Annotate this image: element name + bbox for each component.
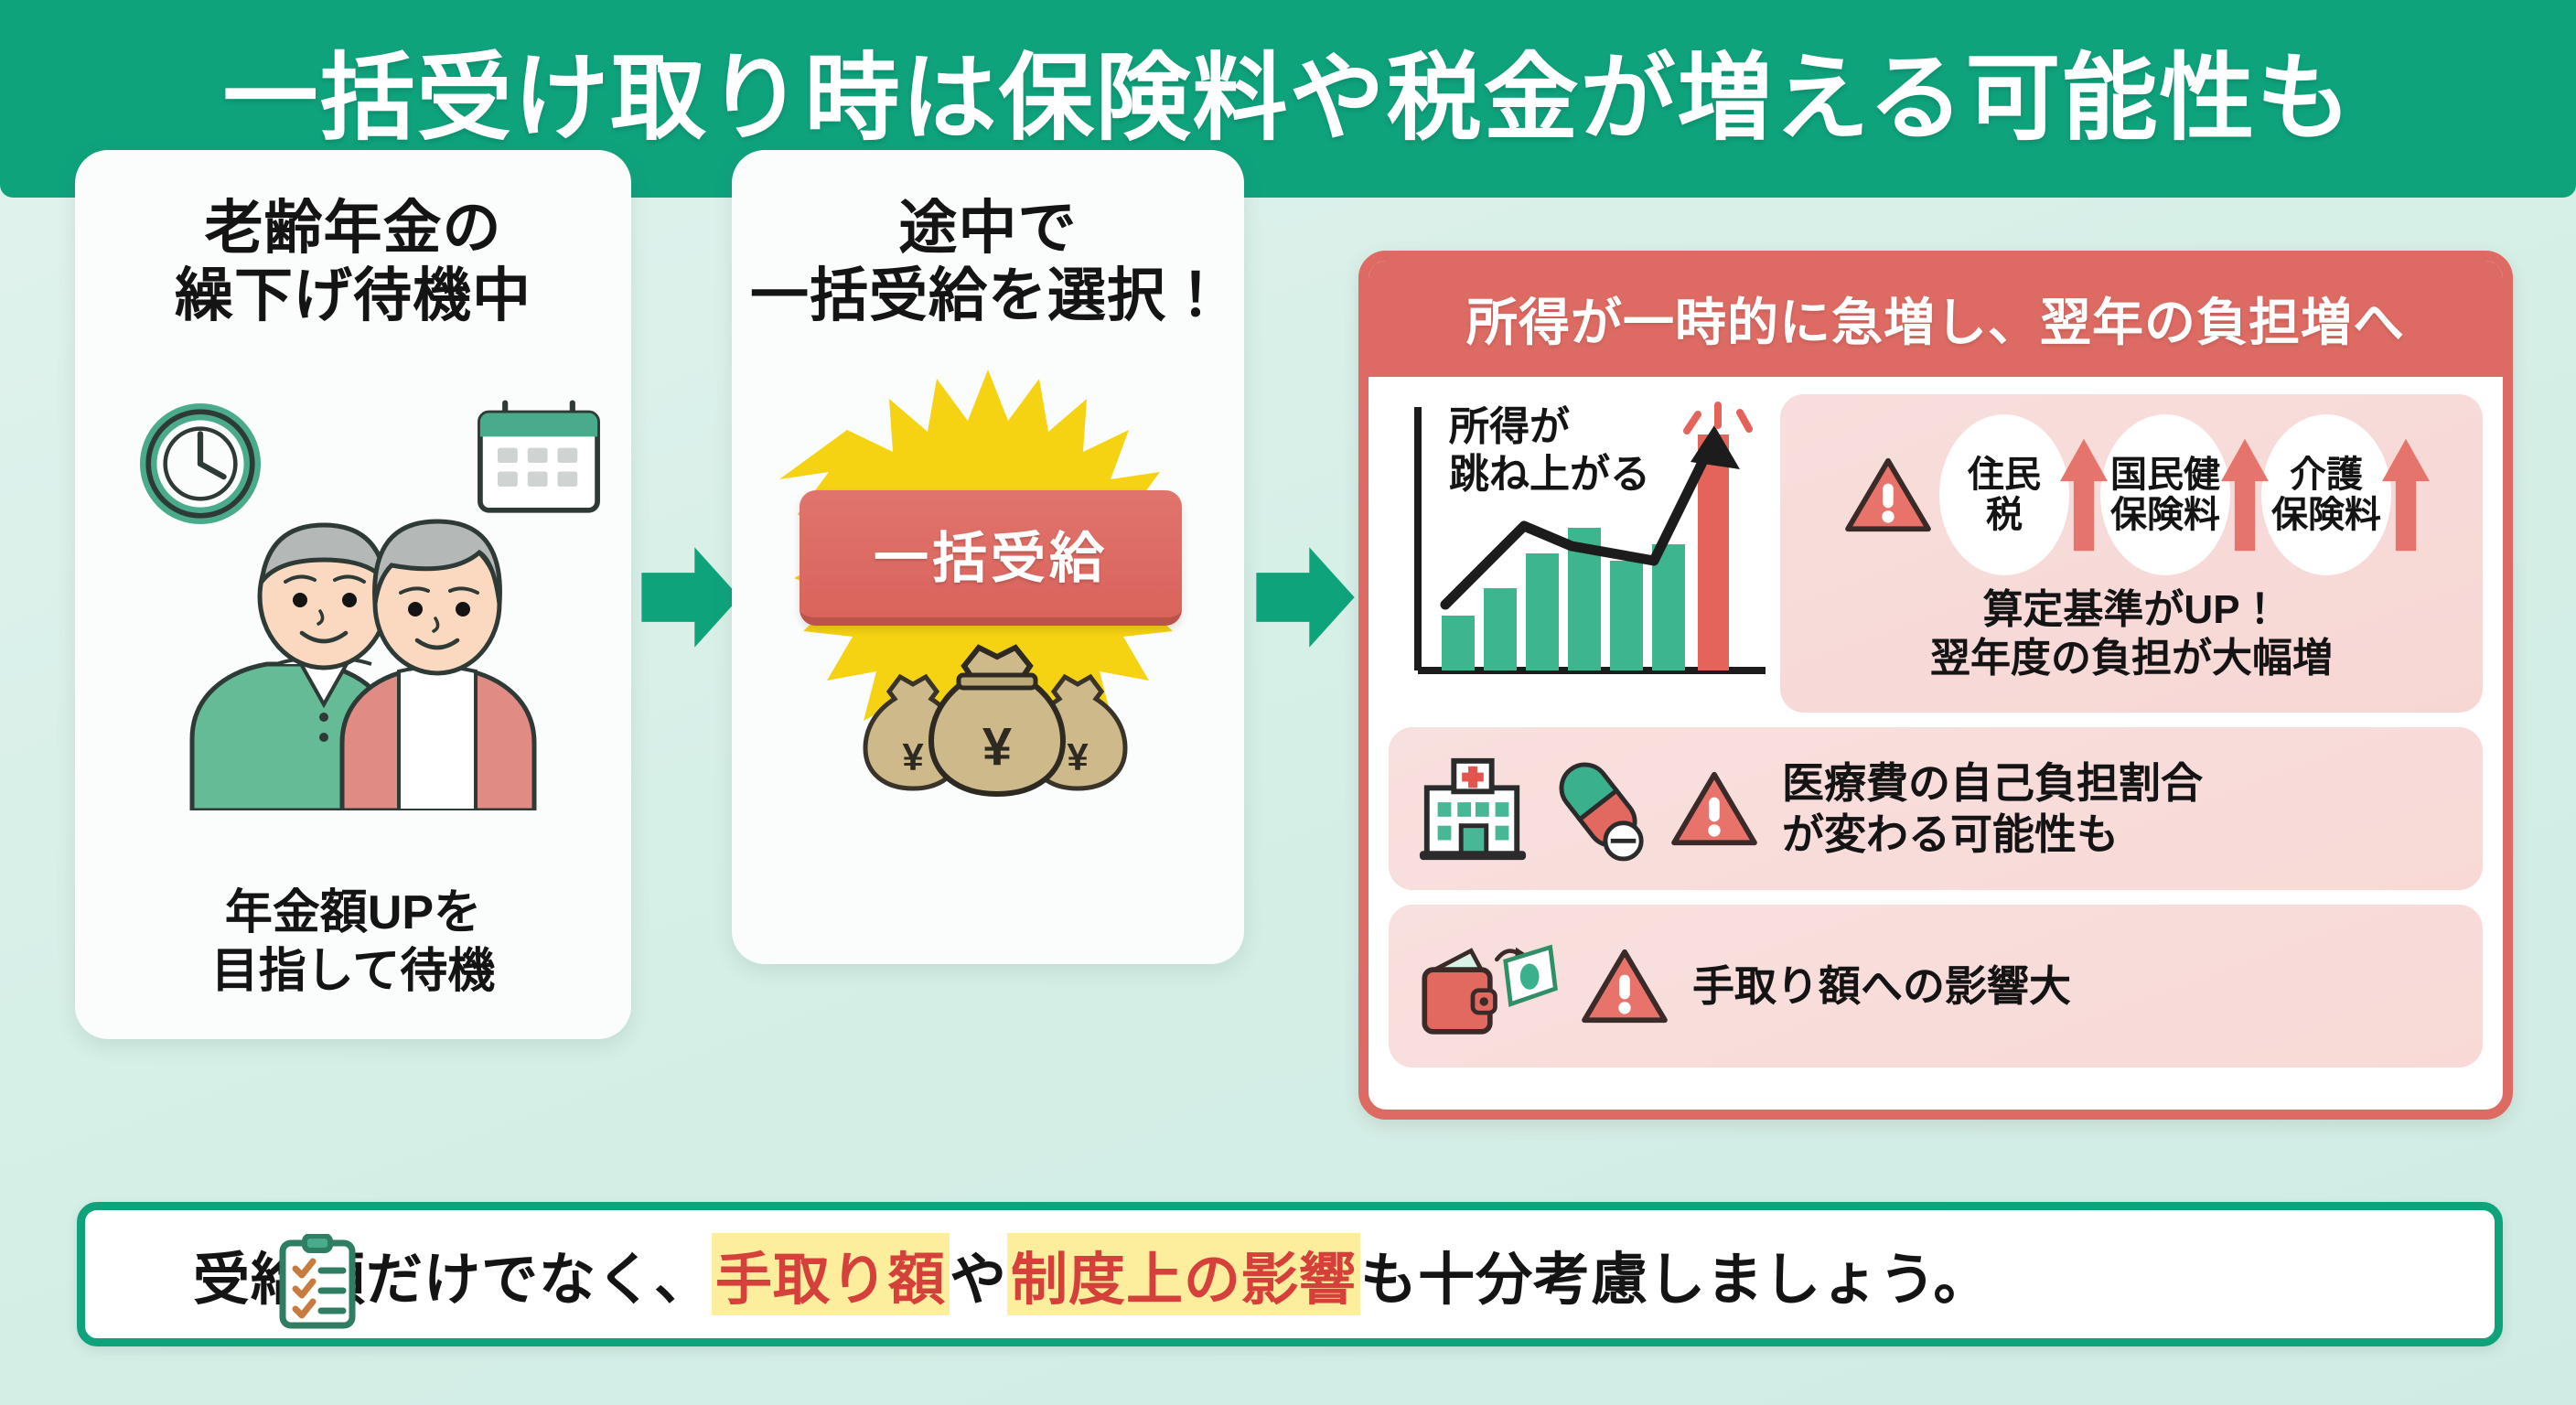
step-waiting-title: 老齢年金の 繰下げ待機中	[75, 194, 631, 329]
premium-increase-tile: 住民 税 国民健 保険料 介護 保険料	[1780, 394, 2483, 713]
footer-segment: や	[950, 1233, 1007, 1315]
up-arrow-icon	[2219, 435, 2270, 554]
premium-badge-label: 住民 税	[1968, 455, 2041, 535]
risk-row-premiums: 所得が 跳ね上がる 住民 税	[1389, 394, 2483, 713]
flow-stage: 老齢年金の 繰下げ待機中	[0, 198, 2576, 1185]
calendar-icon	[470, 399, 607, 527]
risk-panel-header: 所得が一時的に急増し、翌年の負担増へ	[1368, 260, 2504, 377]
premium-badge-label: 介護 保険料	[2271, 455, 2381, 535]
page-title: 一括受け取り時は保険料や税金が増える可能性も	[223, 51, 2354, 146]
footer-advice-text: 受給額だけでなく、 手取り額 や 制度上の影響 も十分考慮しましょう。	[193, 1233, 1991, 1315]
risk-row-takehome-text: 手取り額への影響大	[1692, 960, 2071, 1012]
footer-segment: も十分考慮しましょう。	[1360, 1233, 1991, 1315]
svg-text:¥: ¥	[1067, 735, 1089, 778]
step-card-lump-sum: 途中で 一括受給を選択！ 一括受給 ¥ ¥ ¥	[732, 150, 1244, 964]
lump-sum-button[interactable]: 一括受給	[800, 490, 1182, 626]
warning-triangle-icon	[1581, 947, 1669, 1025]
lump-sum-visual: 一括受給 ¥ ¥ ¥	[759, 362, 1217, 801]
premium-badge-label: 国民健 保険料	[2110, 455, 2220, 535]
step-lump-title: 途中で 一括受給を選択！	[732, 194, 1244, 329]
income-spike-chart: 所得が 跳ね上がる	[1389, 394, 1773, 713]
risk-panel-body: 所得が 跳ね上がる 住民 税	[1368, 378, 2503, 1110]
svg-text:¥: ¥	[982, 717, 1012, 777]
premium-badge-list: 住民 税 国民健 保険料 介護 保険料	[1844, 414, 2419, 575]
hospital-icon	[1414, 752, 1531, 865]
footer-segment-highlight: 制度上の影響	[1007, 1233, 1360, 1315]
right-arrow-icon	[640, 543, 741, 651]
footer-segment: 受給額だけでなく、	[193, 1233, 712, 1315]
risk-row-medical: 医療費の自己負担割合 が変わる可能性も	[1389, 727, 2483, 890]
premium-badge-resident-tax: 住民 税	[1939, 414, 2069, 575]
premium-note: 算定基準がUP！ 翌年度の負担が大幅増	[1930, 586, 2333, 683]
risk-row-medical-text: 医療費の自己負担割合 が変わる可能性も	[1782, 757, 2203, 860]
lump-sum-button-label: 一括受給	[874, 514, 1108, 594]
right-arrow-icon	[1255, 543, 1356, 651]
risk-panel-header-label: 所得が一時的に急増し、翌年の負担増へ	[1466, 282, 2405, 356]
up-arrow-icon	[2380, 435, 2431, 554]
risk-row-takehome: 手取り額への影響大	[1389, 905, 2483, 1067]
warning-triangle-icon	[1844, 456, 1932, 534]
elderly-couple-illustration	[163, 509, 556, 810]
premium-badge-nursing-care: 介護 保険料	[2261, 414, 2391, 575]
clipboard-checklist-icon	[275, 1234, 360, 1331]
step-card-waiting: 老齢年金の 繰下げ待機中	[75, 150, 631, 1039]
footer-advice-box: 受給額だけでなく、 手取り額 や 制度上の影響 も十分考慮しましょう。	[77, 1202, 2503, 1346]
banknote-icon	[1506, 948, 1556, 1004]
money-bags-illustration: ¥ ¥ ¥	[860, 642, 1134, 807]
pill-icon	[1551, 755, 1650, 863]
step-waiting-caption: 年金額UPを 目指して待機	[75, 885, 631, 1001]
chart-annotation: 所得が 跳ね上がる	[1449, 403, 1650, 499]
svg-text:¥: ¥	[902, 735, 924, 778]
risk-panel: 所得が一時的に急増し、翌年の負担増へ	[1358, 251, 2513, 1120]
footer-segment-highlight: 手取り額	[712, 1233, 950, 1315]
wallet-icon	[1414, 931, 1561, 1041]
up-arrow-icon	[2058, 435, 2109, 554]
warning-triangle-icon	[1670, 769, 1758, 848]
premium-badge-national-health: 国民健 保険料	[2100, 414, 2230, 575]
